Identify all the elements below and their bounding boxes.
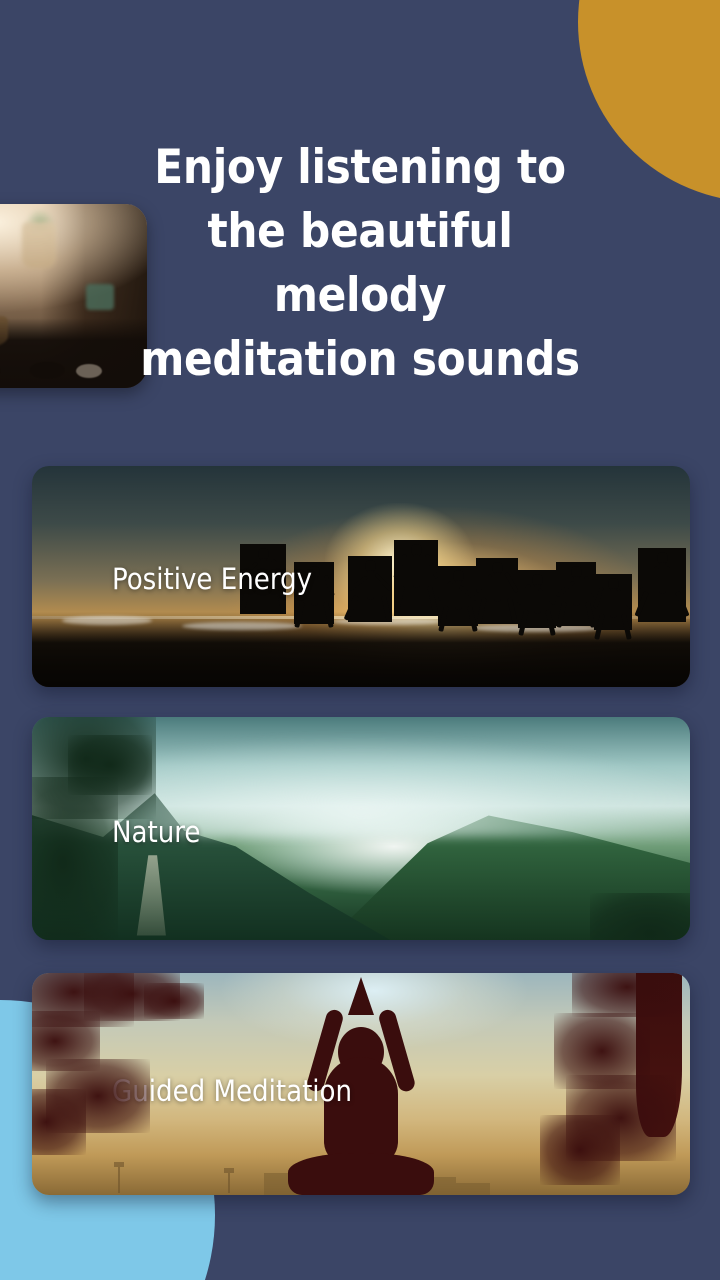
category-label: Positive Energy <box>112 562 312 596</box>
tree-foliage <box>590 893 690 940</box>
person-silhouette <box>476 558 518 624</box>
app-screen: EALING Enjoy listening to the beautiful … <box>0 0 720 1280</box>
vase-shape <box>22 222 56 268</box>
person-silhouette <box>518 570 556 628</box>
tree-foliage <box>32 777 118 940</box>
person-silhouette <box>348 556 392 622</box>
building-shape <box>456 1183 490 1195</box>
person-silhouette <box>556 562 596 626</box>
person-silhouette <box>394 540 438 616</box>
page-title: Enjoy listening to the beautiful melody … <box>78 136 642 392</box>
stone-shape <box>30 362 64 378</box>
person-silhouette <box>438 566 478 626</box>
lamp-post <box>118 1167 120 1193</box>
category-label: Nature <box>112 815 200 849</box>
person-silhouette <box>594 574 632 630</box>
category-card-nature[interactable]: Nature <box>32 717 690 940</box>
lamp-post <box>228 1173 230 1193</box>
guided-meditation-image <box>32 973 690 1195</box>
tree-branch-left <box>32 973 230 1153</box>
surf-foam <box>62 616 152 625</box>
tree-branch-right <box>500 973 690 1195</box>
surf-foam <box>182 622 302 630</box>
category-card-positive-energy[interactable]: Positive Energy <box>32 466 690 687</box>
category-card-guided-meditation[interactable]: Guided Meditation <box>32 973 690 1195</box>
person-silhouette <box>638 548 686 622</box>
singing-bowl-shape <box>0 316 8 350</box>
